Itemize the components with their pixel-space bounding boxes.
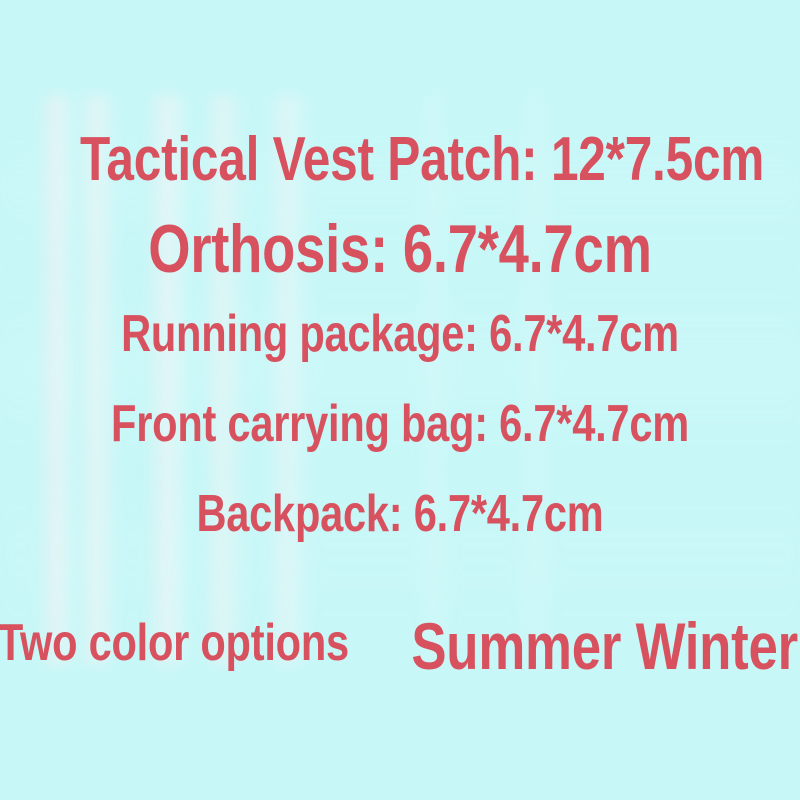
spec-line-tactical-vest-patch: Tactical Vest Patch: 12*7.5cm	[80, 129, 720, 191]
spec-line-running-package: Running package: 6.7*4.7cm	[80, 308, 720, 360]
color-options-label: Two color options	[0, 617, 349, 669]
product-spec-poster: Tactical Vest Patch: 12*7.5cm Orthosis: …	[0, 0, 800, 800]
spec-line-orthosis: Orthosis: 6.7*4.7cm	[80, 215, 720, 283]
seasons-label: Summer Winter	[411, 613, 798, 679]
footer-row: Two color options Summer Winter	[0, 604, 800, 694]
spec-line-front-carrying-bag: Front carrying bag: 6.7*4.7cm	[80, 398, 720, 450]
spec-line-backpack: Backpack: 6.7*4.7cm	[80, 488, 720, 540]
